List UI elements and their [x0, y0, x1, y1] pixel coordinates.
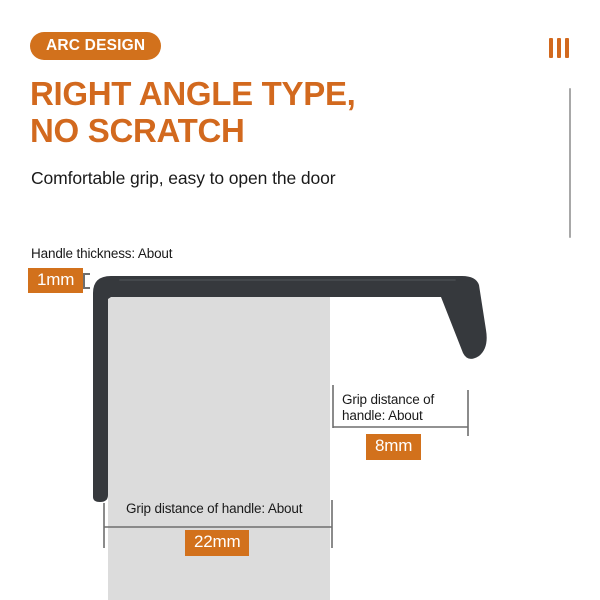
- annotation-value-8mm: 8mm: [366, 434, 421, 460]
- annotation-value-1mm: 1mm: [28, 268, 83, 293]
- page-root: ARC DESIGN RIGHT ANGLE TYPE, NO SCRATCH …: [0, 0, 600, 600]
- annotation-label-handle-thickness: Handle thickness: About: [31, 246, 172, 262]
- annotation-label-grip-distance-vertical: Grip distance of handle: About: [342, 392, 434, 424]
- annotation-label-grip-distance-horizontal: Grip distance of handle: About: [126, 501, 302, 517]
- annotation-value-22mm: 22mm: [185, 530, 249, 556]
